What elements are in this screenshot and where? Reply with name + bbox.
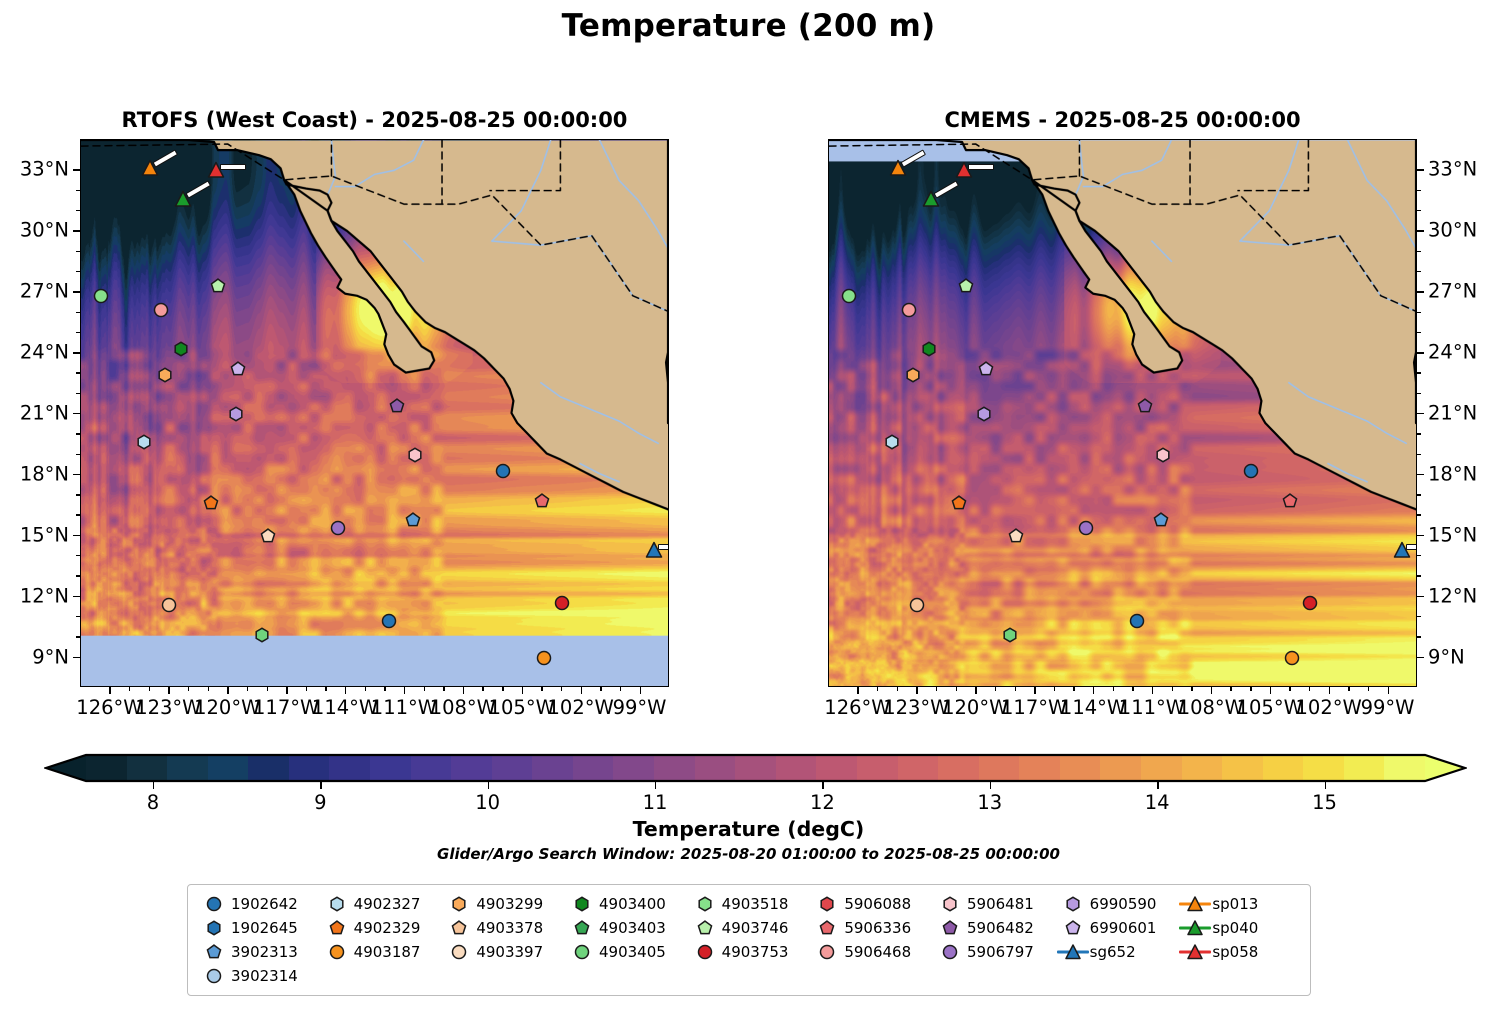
legend-label: sg652	[1090, 943, 1136, 961]
lon-tick-minor	[1113, 687, 1114, 691]
colorbar-label: Temperature (degC)	[0, 817, 1497, 841]
lat-tick-label: 30°N	[20, 219, 69, 242]
colorbar-segment	[1100, 756, 1141, 780]
colorbar-tick-label: 14	[1145, 791, 1170, 814]
lon-tick-minor	[897, 687, 898, 691]
lat-tick-minor	[76, 372, 80, 373]
lat-tick-label: 21°N	[20, 402, 69, 425]
observation-marker[interactable]	[1153, 512, 1168, 527]
lon-tick	[857, 687, 858, 694]
colorbar-cap-low	[46, 755, 86, 781]
legend-column: 590648159064825906797	[933, 892, 1056, 988]
lat-tick-label: 33°N	[1428, 158, 1477, 181]
legend-label: 3902314	[231, 967, 298, 985]
map-frame-cmems[interactable]	[828, 139, 1417, 687]
lon-tick	[345, 687, 346, 694]
lon-tick-minor	[149, 687, 150, 691]
legend-symbol	[197, 941, 231, 963]
lon-tick-minor	[956, 687, 957, 691]
legend-label: 4903753	[722, 943, 789, 961]
legend-item-3902313[interactable]: 3902313	[197, 940, 320, 964]
legend-item-1902645[interactable]: 1902645	[197, 916, 320, 940]
lon-tick-label: 99°W	[613, 696, 667, 719]
legend-symbol	[810, 893, 844, 915]
lat-tick-label: 21°N	[1428, 402, 1477, 425]
lon-tick-label: 114°W	[1060, 696, 1126, 719]
legend-item-4903518[interactable]: 4903518	[688, 892, 811, 916]
legend-item-4903299[interactable]: 4903299	[442, 892, 565, 916]
lon-tick-minor	[600, 687, 601, 691]
observation-marker[interactable]	[922, 342, 937, 357]
colorbar-segment	[1263, 756, 1304, 780]
legend: 1902642190264539023133902314490232749023…	[187, 884, 1311, 996]
legend-item-6990601[interactable]: 6990601	[1056, 916, 1179, 940]
lon-tick	[227, 687, 228, 694]
lat-tick	[1417, 657, 1424, 658]
lon-tick	[1034, 687, 1035, 694]
lat-tick-minor	[1417, 494, 1421, 495]
lat-tick-label: 9°N	[32, 645, 69, 668]
observation-marker[interactable]	[1008, 528, 1023, 543]
lat-tick	[1417, 535, 1424, 536]
observation-marker[interactable]	[154, 303, 169, 318]
lat-tick-minor	[1417, 332, 1421, 333]
observation-marker[interactable]	[162, 597, 177, 612]
colorbar	[86, 755, 1425, 781]
observation-marker[interactable]	[496, 463, 511, 478]
legend-item-4903400[interactable]: 4903400	[565, 892, 688, 916]
lat-tick-minor	[76, 210, 80, 211]
observation-marker[interactable]	[203, 496, 218, 511]
observation-marker[interactable]	[231, 362, 246, 377]
legend-item-5906482[interactable]: 5906482	[933, 916, 1056, 940]
colorbar-cap-high	[1425, 755, 1465, 781]
observation-marker[interactable]	[229, 407, 244, 422]
observation-marker[interactable]	[1303, 595, 1318, 610]
legend-item-3902314[interactable]: 3902314	[197, 964, 320, 988]
observation-marker[interactable]	[902, 303, 917, 318]
lon-tick-label: 126°W	[824, 696, 890, 719]
observation-marker[interactable]	[535, 494, 550, 509]
lon-tick	[522, 687, 523, 694]
legend-column: 490329949033784903397	[442, 892, 565, 988]
lat-tick-minor	[1417, 555, 1421, 556]
legend-label: 4903400	[599, 895, 666, 913]
lon-tick-label: 108°W	[430, 696, 496, 719]
lat-tick	[1417, 413, 1424, 414]
lat-tick-label: 15°N	[20, 523, 69, 546]
lon-tick-label: 105°W	[1237, 696, 1303, 719]
lon-tick-label: 105°W	[489, 696, 555, 719]
observation-marker[interactable]	[537, 650, 552, 665]
legend-item-4903746[interactable]: 4903746	[688, 916, 811, 940]
lon-tick-minor	[1230, 687, 1231, 691]
lat-tick	[73, 169, 80, 170]
colorbar-segment	[573, 756, 614, 780]
lon-tick-minor	[1172, 687, 1173, 691]
observation-marker[interactable]	[977, 407, 992, 422]
lon-tick-minor	[1015, 687, 1016, 691]
lat-tick-minor	[1417, 210, 1421, 211]
observation-marker[interactable]	[211, 279, 226, 294]
observation-marker[interactable]	[93, 289, 108, 304]
legend-item-4903753[interactable]: 4903753	[688, 940, 811, 964]
legend-symbol	[320, 893, 354, 915]
legend-label: 4902329	[354, 919, 421, 937]
colorbar-segment	[86, 756, 127, 780]
legend-symbol	[1178, 893, 1212, 915]
lat-tick-minor	[1417, 372, 1421, 373]
lat-tick-label: 30°N	[1428, 219, 1477, 242]
legend-column: sp013sp040sp058	[1178, 892, 1301, 988]
map-panel-cmems: CMEMS - 2025-08-25 00:00:00	[828, 139, 1417, 687]
legend-grid: 1902642190264539023133902314490232749023…	[197, 892, 1301, 988]
lon-tick-minor	[1132, 687, 1133, 691]
legend-item-5906468[interactable]: 5906468	[810, 940, 933, 964]
colorbar-segment	[1019, 756, 1060, 780]
colorbar-tick	[1157, 781, 1158, 789]
lon-tick-minor	[208, 687, 209, 691]
observation-marker[interactable]	[956, 162, 973, 179]
lat-tick-label: 33°N	[20, 158, 69, 181]
legend-symbol	[933, 917, 967, 939]
lon-tick	[1093, 687, 1094, 694]
lon-tick	[1270, 687, 1271, 694]
colorbar-tick	[488, 781, 489, 789]
lon-tick-label: 117°W	[1001, 696, 1067, 719]
colorbar-tick	[990, 781, 991, 789]
lat-tick-minor	[76, 251, 80, 252]
legend-label: 5906088	[844, 895, 911, 913]
legend-symbol	[565, 917, 599, 939]
legend-item-sp040[interactable]: sp040	[1178, 916, 1301, 940]
observation-marker[interactable]	[910, 597, 925, 612]
legend-label: 4903746	[722, 919, 789, 937]
legend-symbol	[442, 941, 476, 963]
legend-symbol	[320, 941, 354, 963]
legend-symbol	[565, 893, 599, 915]
map-frame-rtofs[interactable]	[80, 139, 669, 687]
legend-symbol	[1178, 941, 1212, 963]
legend-label: sp013	[1212, 895, 1258, 913]
observation-marker[interactable]	[1002, 628, 1017, 643]
colorbar-tick	[153, 781, 154, 789]
legend-symbol	[810, 917, 844, 939]
lat-tick-minor	[76, 616, 80, 617]
lat-tick-minor	[1417, 251, 1421, 252]
observation-marker[interactable]	[136, 435, 151, 450]
observation-marker[interactable]	[175, 190, 192, 207]
lon-tick-label: 102°W	[548, 696, 614, 719]
legend-item-1902642[interactable]: 1902642	[197, 892, 320, 916]
legend-item-4902327[interactable]: 4902327	[320, 892, 443, 916]
legend-item-sg652[interactable]: sg652	[1056, 940, 1179, 964]
legend-column: 69905906990601sg652	[1056, 892, 1179, 988]
lat-tick-minor	[76, 332, 80, 333]
lon-tick-minor	[877, 687, 878, 691]
observation-marker[interactable]	[407, 447, 422, 462]
lat-tick	[73, 230, 80, 231]
observation-marker[interactable]	[1283, 494, 1298, 509]
observation-marker[interactable]	[923, 190, 940, 207]
lon-tick-minor	[129, 687, 130, 691]
legend-item-5906088[interactable]: 5906088	[810, 892, 933, 916]
lon-tick-minor	[995, 687, 996, 691]
lat-tick	[73, 657, 80, 658]
legend-label: sp058	[1212, 943, 1258, 961]
lon-tick-minor	[384, 687, 385, 691]
colorbar-tick-label: 15	[1312, 791, 1337, 814]
lon-tick	[168, 687, 169, 694]
legend-item-4903397[interactable]: 4903397	[442, 940, 565, 964]
legend-item-4903403[interactable]: 4903403	[565, 916, 688, 940]
lat-tick-label: 12°N	[20, 584, 69, 607]
lon-tick	[404, 687, 405, 694]
lon-tick-label: 111°W	[371, 696, 437, 719]
colorbar-tick	[822, 781, 823, 789]
lon-tick-label: 108°W	[1178, 696, 1244, 719]
lat-tick	[1417, 291, 1424, 292]
legend-symbol	[688, 941, 722, 963]
observation-marker[interactable]	[1130, 614, 1145, 629]
legend-column: 1902642190264539023133902314	[197, 892, 320, 988]
lon-tick	[1211, 687, 1212, 694]
legend-label: 5906468	[844, 943, 911, 961]
colorbar-segment	[857, 756, 898, 780]
legend-column: 590608859063365906468	[810, 892, 933, 988]
lon-tick	[109, 687, 110, 694]
colorbar-segment	[411, 756, 452, 780]
lat-tick-minor	[1417, 433, 1421, 434]
lon-tick-minor	[306, 687, 307, 691]
observation-marker[interactable]	[889, 160, 906, 177]
colorbar-segment	[695, 756, 736, 780]
lat-tick-minor	[76, 575, 80, 576]
legend-column: 490232749023294903187	[320, 892, 443, 988]
observation-marker[interactable]	[158, 368, 173, 383]
lat-tick-label: 12°N	[1428, 584, 1477, 607]
lat-tick-minor	[1417, 575, 1421, 576]
lat-tick	[1417, 230, 1424, 231]
lat-tick-label: 18°N	[20, 462, 69, 485]
lon-tick	[975, 687, 976, 694]
legend-label: 6990601	[1090, 919, 1157, 937]
lat-tick-label: 24°N	[1428, 341, 1477, 364]
lon-tick-minor	[502, 687, 503, 691]
colorbar-segment	[289, 756, 330, 780]
figure-title: Temperature (200 m)	[0, 8, 1497, 44]
legend-item-4903187[interactable]: 4903187	[320, 940, 443, 964]
lat-tick-minor	[1417, 271, 1421, 272]
lon-tick-minor	[1054, 687, 1055, 691]
lat-tick-label: 9°N	[1428, 645, 1465, 668]
observation-marker[interactable]	[1394, 541, 1411, 558]
legend-label: 4903299	[476, 895, 543, 913]
colorbar-tick-label: 12	[810, 791, 835, 814]
lon-tick-minor	[424, 687, 425, 691]
lat-tick-minor	[1417, 190, 1421, 191]
lat-tick	[73, 413, 80, 414]
lon-tick-label: 111°W	[1119, 696, 1185, 719]
legend-item-5906797[interactable]: 5906797	[933, 940, 1056, 964]
lon-tick-minor	[1309, 687, 1310, 691]
lat-tick-minor	[1417, 393, 1421, 394]
observation-marker[interactable]	[555, 595, 570, 610]
legend-symbol	[1056, 917, 1090, 939]
observation-marker[interactable]	[208, 162, 225, 179]
lat-tick-minor	[76, 454, 80, 455]
observation-marker[interactable]	[979, 362, 994, 377]
legend-item-5906481[interactable]: 5906481	[933, 892, 1056, 916]
lat-tick-minor	[1417, 616, 1421, 617]
legend-item-4902329[interactable]: 4902329	[320, 916, 443, 940]
lat-tick	[1417, 596, 1424, 597]
colorbar-segment	[451, 756, 492, 780]
observation-marker[interactable]	[959, 279, 974, 294]
colorbar-segment	[938, 756, 979, 780]
legend-symbol	[933, 893, 967, 915]
observation-marker[interactable]	[254, 628, 269, 643]
lon-tick-minor	[1368, 687, 1369, 691]
lon-tick-minor	[1191, 687, 1192, 691]
legend-label: 5906336	[844, 919, 911, 937]
lon-tick-minor	[1348, 687, 1349, 691]
observation-marker[interactable]	[906, 368, 921, 383]
observation-marker[interactable]	[141, 160, 158, 177]
lon-tick	[1388, 687, 1389, 694]
lat-tick-minor	[76, 555, 80, 556]
legend-label: 1902642	[231, 895, 298, 913]
map-panel-rtofs: RTOFS (West Coast) - 2025-08-25 00:00:00	[80, 139, 669, 687]
legend-symbol	[320, 917, 354, 939]
lat-tick	[1417, 474, 1424, 475]
observation-marker[interactable]	[405, 512, 420, 527]
legend-symbol	[197, 965, 231, 987]
lon-tick-minor	[188, 687, 189, 691]
lon-tick-minor	[1073, 687, 1074, 691]
lat-tick-label: 27°N	[1428, 280, 1477, 303]
observation-marker[interactable]	[174, 342, 189, 357]
legend-label: 4903187	[354, 943, 421, 961]
lon-tick	[581, 687, 582, 694]
colorbar-subtitle: Glider/Argo Search Window: 2025-08-20 01…	[0, 845, 1497, 863]
legend-label: 5906481	[967, 895, 1034, 913]
lon-tick-label: 117°W	[253, 696, 319, 719]
lon-tick-label: 114°W	[312, 696, 378, 719]
colorbar-tick-label: 8	[147, 791, 159, 814]
observation-marker[interactable]	[382, 614, 397, 629]
observation-marker[interactable]	[390, 398, 405, 413]
lat-tick	[73, 352, 80, 353]
lat-tick-minor	[76, 514, 80, 515]
lat-tick-minor	[76, 433, 80, 434]
lon-tick-minor	[443, 687, 444, 691]
colorbar-tick	[655, 781, 656, 789]
legend-label: 4903405	[599, 943, 666, 961]
colorbar-segment	[492, 756, 533, 780]
legend-item-sp058[interactable]: sp058	[1178, 940, 1301, 964]
lon-tick-minor	[247, 687, 248, 691]
lat-tick-minor	[76, 190, 80, 191]
lon-tick-minor	[365, 687, 366, 691]
observation-marker[interactable]	[1155, 447, 1170, 462]
lat-tick	[1417, 169, 1424, 170]
legend-symbol	[442, 917, 476, 939]
lon-tick	[640, 687, 641, 694]
lon-tick-minor	[267, 687, 268, 691]
observation-marker[interactable]	[260, 528, 275, 543]
lon-tick	[1152, 687, 1153, 694]
lon-tick-minor	[1289, 687, 1290, 691]
legend-symbol	[810, 941, 844, 963]
lat-tick-minor	[76, 636, 80, 637]
lat-tick-minor	[1417, 636, 1421, 637]
lat-tick-minor	[1417, 312, 1421, 313]
colorbar-segment	[167, 756, 208, 780]
legend-symbol	[1178, 917, 1212, 939]
colorbar-segment	[127, 756, 168, 780]
legend-symbol	[933, 941, 967, 963]
lat-tick-label: 18°N	[1428, 462, 1477, 485]
legend-item-5906336[interactable]: 5906336	[810, 916, 933, 940]
observation-marker[interactable]	[884, 435, 899, 450]
legend-label: 5906482	[967, 919, 1034, 937]
observation-marker[interactable]	[1138, 398, 1153, 413]
colorbar-segment	[248, 756, 289, 780]
legend-item-sp013[interactable]: sp013	[1178, 892, 1301, 916]
lon-tick	[916, 687, 917, 694]
lon-tick-minor	[936, 687, 937, 691]
legend-item-6990590[interactable]: 6990590	[1056, 892, 1179, 916]
lat-tick	[1417, 352, 1424, 353]
observation-marker[interactable]	[1285, 650, 1300, 665]
lon-tick-label: 123°W	[135, 696, 201, 719]
legend-item-4903378[interactable]: 4903378	[442, 916, 565, 940]
observation-marker[interactable]	[1244, 463, 1259, 478]
observation-marker[interactable]	[951, 496, 966, 511]
legend-symbol	[1056, 893, 1090, 915]
observation-marker[interactable]	[1079, 520, 1094, 535]
legend-label: 4903397	[476, 943, 543, 961]
legend-item-4903405[interactable]: 4903405	[565, 940, 688, 964]
observation-marker[interactable]	[841, 289, 856, 304]
legend-column: 490351849037464903753	[688, 892, 811, 988]
lat-tick-minor	[76, 393, 80, 394]
colorbar-segment	[613, 756, 654, 780]
colorbar-tick-label: 13	[977, 791, 1002, 814]
lon-tick-minor	[482, 687, 483, 691]
colorbar-segment	[329, 756, 370, 780]
observation-marker[interactable]	[646, 541, 663, 558]
legend-symbol	[688, 917, 722, 939]
lat-tick-minor	[76, 312, 80, 313]
lon-tick	[286, 687, 287, 694]
lat-tick-minor	[76, 271, 80, 272]
legend-symbol	[442, 893, 476, 915]
legend-label: 4902327	[354, 895, 421, 913]
lon-tick-label: 123°W	[883, 696, 949, 719]
colorbar-segment	[735, 756, 776, 780]
lon-tick	[463, 687, 464, 694]
colorbar-segment	[370, 756, 411, 780]
colorbar-segment	[1222, 756, 1263, 780]
colorbar-tick-label: 9	[314, 791, 326, 814]
colorbar-tick-label: 10	[475, 791, 500, 814]
observation-marker[interactable]	[331, 520, 346, 535]
lat-tick	[73, 291, 80, 292]
panel-title-cmems: CMEMS - 2025-08-25 00:00:00	[828, 108, 1417, 132]
colorbar-segment	[979, 756, 1020, 780]
